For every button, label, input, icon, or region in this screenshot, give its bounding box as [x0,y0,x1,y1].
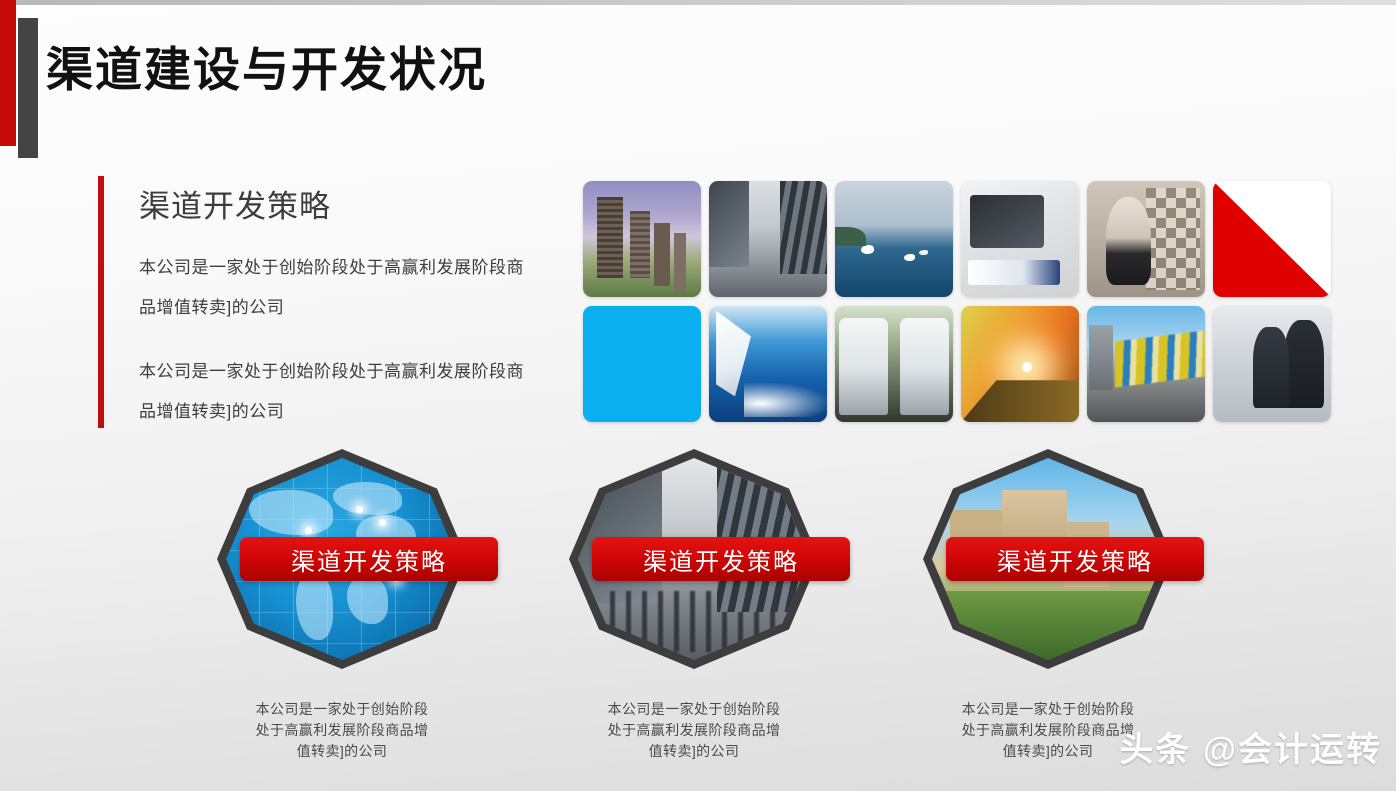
diamond-item-globe[interactable]: 渠道开发策略 本公司是一家处于创始阶段处于高赢利发展阶段商品增值转卖]的公司 [192,449,492,762]
photo-city-street-buildings[interactable] [709,181,827,297]
diamond-banner-globe[interactable]: 渠道开发策略 [240,537,498,581]
diamond-caption-globe: 本公司是一家处于创始阶段处于高赢利发展阶段商品增值转卖]的公司 [192,699,492,762]
diamond-item-villa[interactable]: 渠道开发策略 本公司是一家处于创始阶段处于高赢利发展阶段商品增值转卖]的公司 [898,449,1198,762]
diamond-banner-label: 渠道开发策略 [643,542,799,577]
photo-swans-lake[interactable] [835,181,953,297]
diamond-shape-globe[interactable]: 渠道开发策略 [217,449,467,669]
photo-woman-sunglasses-phone[interactable] [1087,181,1205,297]
diamond-item-street[interactable]: 渠道开发策略 本公司是一家处于创始阶段处于高赢利发展阶段商品增值转卖]的公司 [544,449,844,762]
diamond-shape-street[interactable]: 渠道开发策略 [569,449,819,669]
title-red-accent-bar [0,0,16,146]
photo-city-bus-motion[interactable] [1087,306,1205,422]
diamond-banner-street[interactable]: 渠道开发策略 [592,537,850,581]
photo-sailboat-ocean[interactable] [709,306,827,422]
photo-hands-writing-notes[interactable] [961,181,1079,297]
diamond-caption-street: 本公司是一家处于创始阶段处于高赢利发展阶段商品增值转卖]的公司 [544,699,844,762]
diamond-banner-label: 渠道开发策略 [997,542,1153,577]
diamond-banner-villa[interactable]: 渠道开发策略 [946,537,1204,581]
watermark: 头条 @会计运转 [1119,722,1382,771]
title-gray-accent-bar [18,18,38,158]
photo-buses-row[interactable] [835,306,953,422]
diamond-shape-villa[interactable]: 渠道开发策略 [923,449,1173,669]
shape-red-triangle[interactable] [1213,181,1331,297]
top-edge-strip [0,0,1396,5]
photo-grid [583,181,1331,422]
panel-red-accent-bar [98,176,104,428]
photo-sunset-road[interactable] [961,306,1079,422]
panel-heading: 渠道开发策略 [139,181,331,226]
panel-paragraph-1: 本公司是一家处于创始阶段处于高赢利发展阶段商品增值转卖]的公司 [139,248,524,328]
diamond-banner-label: 渠道开发策略 [291,542,447,577]
shape-solid-blue[interactable] [583,306,701,422]
page-title: 渠道建设与开发状况 [46,46,487,93]
photo-businessmen-meeting[interactable] [1213,306,1331,422]
photo-highrise-apartments[interactable] [583,181,701,297]
panel-paragraph-2: 本公司是一家处于创始阶段处于高赢利发展阶段商品增值转卖]的公司 [139,352,524,432]
